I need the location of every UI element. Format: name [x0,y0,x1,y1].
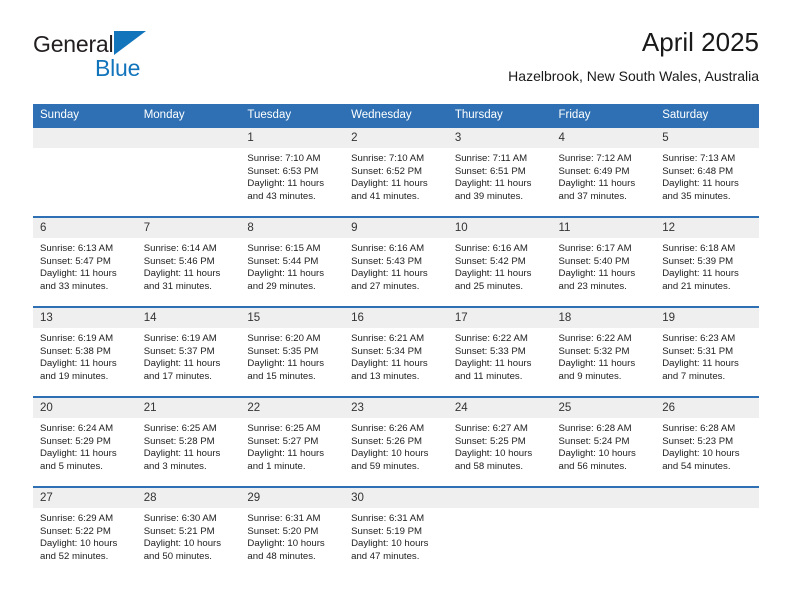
sunrise-text: Sunrise: 6:28 AM [662,423,754,436]
logo-top-row: General [33,30,233,58]
sunrise-text: Sunrise: 7:11 AM [455,153,547,166]
daylight-text: Daylight: 11 hours and 31 minutes. [144,268,236,293]
calendar-day-cell[interactable]: 25Sunrise: 6:28 AMSunset: 5:24 PMDayligh… [552,397,656,487]
calendar-day-cell[interactable]: 24Sunrise: 6:27 AMSunset: 5:25 PMDayligh… [448,397,552,487]
weekday-header-monday: Monday [137,104,241,127]
sunrise-text: Sunrise: 6:22 AM [455,333,547,346]
day-number: 9 [344,218,448,238]
sunset-text: Sunset: 5:35 PM [247,346,339,359]
daylight-text: Daylight: 10 hours and 56 minutes. [559,448,651,473]
calendar-day-cell[interactable]: 30Sunrise: 6:31 AMSunset: 5:19 PMDayligh… [344,487,448,576]
day-cell-inner: 3Sunrise: 7:11 AMSunset: 6:51 PMDaylight… [448,128,552,216]
day-cell-inner: 30Sunrise: 6:31 AMSunset: 5:19 PMDayligh… [344,488,448,576]
day-cell-details: Sunrise: 6:24 AMSunset: 5:29 PMDaylight:… [33,418,137,473]
day-cell-details: Sunrise: 6:22 AMSunset: 5:32 PMDaylight:… [552,328,656,383]
daylight-text: Daylight: 11 hours and 9 minutes. [559,358,651,383]
day-cell-inner: 26Sunrise: 6:28 AMSunset: 5:23 PMDayligh… [655,398,759,486]
day-cell-inner: 16Sunrise: 6:21 AMSunset: 5:34 PMDayligh… [344,308,448,396]
calendar-day-cell-empty [33,127,137,217]
day-cell-details: Sunrise: 6:15 AMSunset: 5:44 PMDaylight:… [240,238,344,293]
sunrise-text: Sunrise: 7:10 AM [351,153,443,166]
calendar-day-cell[interactable]: 13Sunrise: 6:19 AMSunset: 5:38 PMDayligh… [33,307,137,397]
day-cell-inner [137,128,241,216]
day-cell-inner: 24Sunrise: 6:27 AMSunset: 5:25 PMDayligh… [448,398,552,486]
day-cell-details: Sunrise: 6:22 AMSunset: 5:33 PMDaylight:… [448,328,552,383]
sunrise-text: Sunrise: 6:31 AM [351,513,443,526]
sunset-text: Sunset: 5:40 PM [559,256,651,269]
sunset-text: Sunset: 6:53 PM [247,166,339,179]
day-cell-inner: 5Sunrise: 7:13 AMSunset: 6:48 PMDaylight… [655,128,759,216]
day-cell-details: Sunrise: 7:12 AMSunset: 6:49 PMDaylight:… [552,148,656,203]
sunset-text: Sunset: 5:28 PM [144,436,236,449]
sunset-text: Sunset: 5:46 PM [144,256,236,269]
day-cell-inner [552,488,656,576]
sunset-text: Sunset: 5:47 PM [40,256,132,269]
calendar-day-cell[interactable]: 17Sunrise: 6:22 AMSunset: 5:33 PMDayligh… [448,307,552,397]
calendar-day-cell-empty [137,127,241,217]
day-number: 22 [240,398,344,418]
daylight-text: Daylight: 11 hours and 21 minutes. [662,268,754,293]
day-number: 30 [344,488,448,508]
day-cell-details: Sunrise: 6:30 AMSunset: 5:21 PMDaylight:… [137,508,241,563]
day-cell-details: Sunrise: 7:11 AMSunset: 6:51 PMDaylight:… [448,148,552,203]
day-number [552,488,656,508]
day-cell-inner: 9Sunrise: 6:16 AMSunset: 5:43 PMDaylight… [344,218,448,306]
sunrise-text: Sunrise: 6:19 AM [40,333,132,346]
day-number: 23 [344,398,448,418]
day-cell-inner: 29Sunrise: 6:31 AMSunset: 5:20 PMDayligh… [240,488,344,576]
day-cell-details: Sunrise: 6:31 AMSunset: 5:19 PMDaylight:… [344,508,448,563]
day-cell-details: Sunrise: 7:13 AMSunset: 6:48 PMDaylight:… [655,148,759,203]
daylight-text: Daylight: 10 hours and 50 minutes. [144,538,236,563]
daylight-text: Daylight: 11 hours and 41 minutes. [351,178,443,203]
day-number [448,488,552,508]
calendar-week-row: 20Sunrise: 6:24 AMSunset: 5:29 PMDayligh… [33,397,759,487]
daylight-text: Daylight: 10 hours and 59 minutes. [351,448,443,473]
day-cell-inner: 25Sunrise: 6:28 AMSunset: 5:24 PMDayligh… [552,398,656,486]
daylight-text: Daylight: 11 hours and 27 minutes. [351,268,443,293]
day-number: 20 [33,398,137,418]
day-cell-inner: 15Sunrise: 6:20 AMSunset: 5:35 PMDayligh… [240,308,344,396]
sunrise-text: Sunrise: 6:22 AM [559,333,651,346]
sunset-text: Sunset: 5:33 PM [455,346,547,359]
day-cell-details: Sunrise: 6:26 AMSunset: 5:26 PMDaylight:… [344,418,448,473]
sunset-text: Sunset: 6:48 PM [662,166,754,179]
page-header: General Blue April 2025 Hazelbrook, New … [33,26,759,96]
logo-text-blue: Blue [95,55,140,82]
sunset-text: Sunset: 6:51 PM [455,166,547,179]
day-number: 17 [448,308,552,328]
day-cell-inner: 23Sunrise: 6:26 AMSunset: 5:26 PMDayligh… [344,398,448,486]
sunrise-text: Sunrise: 6:17 AM [559,243,651,256]
calendar-day-cell[interactable]: 7Sunrise: 6:14 AMSunset: 5:46 PMDaylight… [137,217,241,307]
calendar-day-cell[interactable]: 29Sunrise: 6:31 AMSunset: 5:20 PMDayligh… [240,487,344,576]
sunrise-text: Sunrise: 6:13 AM [40,243,132,256]
day-number: 29 [240,488,344,508]
sunset-text: Sunset: 5:38 PM [40,346,132,359]
daylight-text: Daylight: 10 hours and 52 minutes. [40,538,132,563]
day-cell-inner: 7Sunrise: 6:14 AMSunset: 5:46 PMDaylight… [137,218,241,306]
day-cell-details: Sunrise: 7:10 AMSunset: 6:53 PMDaylight:… [240,148,344,203]
logo-text-general: General [33,31,113,57]
sunrise-text: Sunrise: 7:12 AM [559,153,651,166]
sunrise-text: Sunrise: 6:14 AM [144,243,236,256]
day-number: 4 [552,128,656,148]
calendar-day-cell-empty [552,487,656,576]
sunrise-text: Sunrise: 6:15 AM [247,243,339,256]
calendar-header-row: Sunday Monday Tuesday Wednesday Thursday… [33,104,759,127]
calendar-day-cell[interactable]: 23Sunrise: 6:26 AMSunset: 5:26 PMDayligh… [344,397,448,487]
daylight-text: Daylight: 11 hours and 43 minutes. [247,178,339,203]
daylight-text: Daylight: 11 hours and 33 minutes. [40,268,132,293]
sunrise-text: Sunrise: 6:28 AM [559,423,651,436]
calendar-day-cell[interactable]: 9Sunrise: 6:16 AMSunset: 5:43 PMDaylight… [344,217,448,307]
day-cell-inner: 17Sunrise: 6:22 AMSunset: 5:33 PMDayligh… [448,308,552,396]
sunrise-text: Sunrise: 6:24 AM [40,423,132,436]
logo-triangle-icon [114,31,146,55]
calendar-day-cell[interactable]: 19Sunrise: 6:23 AMSunset: 5:31 PMDayligh… [655,307,759,397]
day-cell-details: Sunrise: 6:20 AMSunset: 5:35 PMDaylight:… [240,328,344,383]
daylight-text: Daylight: 10 hours and 54 minutes. [662,448,754,473]
calendar-day-cell[interactable]: 1Sunrise: 7:10 AMSunset: 6:53 PMDaylight… [240,127,344,217]
day-number: 2 [344,128,448,148]
day-cell-inner: 18Sunrise: 6:22 AMSunset: 5:32 PMDayligh… [552,308,656,396]
calendar-day-cell[interactable]: 3Sunrise: 7:11 AMSunset: 6:51 PMDaylight… [448,127,552,217]
calendar-day-cell[interactable]: 26Sunrise: 6:28 AMSunset: 5:23 PMDayligh… [655,397,759,487]
day-number: 28 [137,488,241,508]
weekday-header-tuesday: Tuesday [240,104,344,127]
calendar-day-cell[interactable]: 21Sunrise: 6:25 AMSunset: 5:28 PMDayligh… [137,397,241,487]
calendar-day-cell[interactable]: 18Sunrise: 6:22 AMSunset: 5:32 PMDayligh… [552,307,656,397]
day-number: 16 [344,308,448,328]
day-number: 26 [655,398,759,418]
calendar-day-cell[interactable]: 22Sunrise: 6:25 AMSunset: 5:27 PMDayligh… [240,397,344,487]
calendar-day-cell[interactable]: 4Sunrise: 7:12 AMSunset: 6:49 PMDaylight… [552,127,656,217]
day-cell-inner: 6Sunrise: 6:13 AMSunset: 5:47 PMDaylight… [33,218,137,306]
sunrise-text: Sunrise: 6:18 AM [662,243,754,256]
day-cell-details: Sunrise: 6:28 AMSunset: 5:23 PMDaylight:… [655,418,759,473]
day-number: 7 [137,218,241,238]
sunrise-text: Sunrise: 7:10 AM [247,153,339,166]
day-cell-details: Sunrise: 7:10 AMSunset: 6:52 PMDaylight:… [344,148,448,203]
calendar-day-cell-empty [448,487,552,576]
calendar-week-row: 13Sunrise: 6:19 AMSunset: 5:38 PMDayligh… [33,307,759,397]
page-title: April 2025 [508,26,759,58]
daylight-text: Daylight: 11 hours and 15 minutes. [247,358,339,383]
calendar-day-cell[interactable]: 2Sunrise: 7:10 AMSunset: 6:52 PMDaylight… [344,127,448,217]
calendar-day-cell[interactable]: 20Sunrise: 6:24 AMSunset: 5:29 PMDayligh… [33,397,137,487]
day-cell-inner: 11Sunrise: 6:17 AMSunset: 5:40 PMDayligh… [552,218,656,306]
daylight-text: Daylight: 10 hours and 48 minutes. [247,538,339,563]
sunset-text: Sunset: 5:43 PM [351,256,443,269]
sunset-text: Sunset: 5:31 PM [662,346,754,359]
calendar-week-row: 6Sunrise: 6:13 AMSunset: 5:47 PMDaylight… [33,217,759,307]
day-cell-details: Sunrise: 6:28 AMSunset: 5:24 PMDaylight:… [552,418,656,473]
day-cell-inner: 22Sunrise: 6:25 AMSunset: 5:27 PMDayligh… [240,398,344,486]
sunrise-text: Sunrise: 6:25 AM [247,423,339,436]
day-cell-inner [655,488,759,576]
sunset-text: Sunset: 5:32 PM [559,346,651,359]
day-number: 15 [240,308,344,328]
sunset-text: Sunset: 5:42 PM [455,256,547,269]
calendar-day-cell[interactable]: 16Sunrise: 6:21 AMSunset: 5:34 PMDayligh… [344,307,448,397]
day-number [33,128,137,148]
day-cell-inner: 20Sunrise: 6:24 AMSunset: 5:29 PMDayligh… [33,398,137,486]
sunset-text: Sunset: 5:27 PM [247,436,339,449]
day-number: 19 [655,308,759,328]
sunrise-text: Sunrise: 6:26 AM [351,423,443,436]
day-number: 24 [448,398,552,418]
sunset-text: Sunset: 5:26 PM [351,436,443,449]
sunset-text: Sunset: 5:34 PM [351,346,443,359]
day-number: 3 [448,128,552,148]
day-cell-details: Sunrise: 6:23 AMSunset: 5:31 PMDaylight:… [655,328,759,383]
daylight-text: Daylight: 10 hours and 47 minutes. [351,538,443,563]
sunrise-text: Sunrise: 6:29 AM [40,513,132,526]
day-cell-inner: 21Sunrise: 6:25 AMSunset: 5:28 PMDayligh… [137,398,241,486]
weekday-header-wednesday: Wednesday [344,104,448,127]
calendar-body: 1Sunrise: 7:10 AMSunset: 6:53 PMDaylight… [33,127,759,576]
calendar-week-row: 1Sunrise: 7:10 AMSunset: 6:53 PMDaylight… [33,127,759,217]
calendar-day-cell-empty [655,487,759,576]
day-cell-inner [448,488,552,576]
weekday-header-sunday: Sunday [33,104,137,127]
daylight-text: Daylight: 11 hours and 11 minutes. [455,358,547,383]
day-number: 6 [33,218,137,238]
sunrise-text: Sunrise: 6:19 AM [144,333,236,346]
sunrise-text: Sunrise: 6:27 AM [455,423,547,436]
day-number: 11 [552,218,656,238]
day-number: 8 [240,218,344,238]
daylight-text: Daylight: 11 hours and 37 minutes. [559,178,651,203]
day-number: 25 [552,398,656,418]
daylight-text: Daylight: 11 hours and 25 minutes. [455,268,547,293]
day-cell-details: Sunrise: 6:14 AMSunset: 5:46 PMDaylight:… [137,238,241,293]
day-cell-details: Sunrise: 6:19 AMSunset: 5:38 PMDaylight:… [33,328,137,383]
day-number: 12 [655,218,759,238]
title-block: April 2025 Hazelbrook, New South Wales, … [508,26,759,85]
day-cell-details: Sunrise: 6:25 AMSunset: 5:27 PMDaylight:… [240,418,344,473]
sunrise-text: Sunrise: 6:31 AM [247,513,339,526]
day-cell-details: Sunrise: 6:13 AMSunset: 5:47 PMDaylight:… [33,238,137,293]
sunrise-text: Sunrise: 6:16 AM [455,243,547,256]
daylight-text: Daylight: 11 hours and 1 minute. [247,448,339,473]
calendar-day-cell[interactable]: 15Sunrise: 6:20 AMSunset: 5:35 PMDayligh… [240,307,344,397]
page-subtitle: Hazelbrook, New South Wales, Australia [508,68,759,85]
weekday-header-saturday: Saturday [655,104,759,127]
day-cell-details: Sunrise: 6:25 AMSunset: 5:28 PMDaylight:… [137,418,241,473]
day-cell-inner: 10Sunrise: 6:16 AMSunset: 5:42 PMDayligh… [448,218,552,306]
sunrise-text: Sunrise: 7:13 AM [662,153,754,166]
daylight-text: Daylight: 11 hours and 23 minutes. [559,268,651,293]
daylight-text: Daylight: 11 hours and 19 minutes. [40,358,132,383]
day-cell-details: Sunrise: 6:19 AMSunset: 5:37 PMDaylight:… [137,328,241,383]
calendar-day-cell[interactable]: 14Sunrise: 6:19 AMSunset: 5:37 PMDayligh… [137,307,241,397]
day-cell-inner: 8Sunrise: 6:15 AMSunset: 5:44 PMDaylight… [240,218,344,306]
sunrise-text: Sunrise: 6:16 AM [351,243,443,256]
daylight-text: Daylight: 11 hours and 29 minutes. [247,268,339,293]
day-number [137,128,241,148]
calendar-day-cell[interactable]: 27Sunrise: 6:29 AMSunset: 5:22 PMDayligh… [33,487,137,576]
sunset-text: Sunset: 5:29 PM [40,436,132,449]
sunset-text: Sunset: 5:37 PM [144,346,236,359]
calendar-day-cell[interactable]: 8Sunrise: 6:15 AMSunset: 5:44 PMDaylight… [240,217,344,307]
day-number: 10 [448,218,552,238]
day-cell-details: Sunrise: 6:17 AMSunset: 5:40 PMDaylight:… [552,238,656,293]
day-cell-details: Sunrise: 6:31 AMSunset: 5:20 PMDaylight:… [240,508,344,563]
calendar-day-cell[interactable]: 5Sunrise: 7:13 AMSunset: 6:48 PMDaylight… [655,127,759,217]
day-cell-details: Sunrise: 6:18 AMSunset: 5:39 PMDaylight:… [655,238,759,293]
daylight-text: Daylight: 11 hours and 3 minutes. [144,448,236,473]
sunrise-text: Sunrise: 6:23 AM [662,333,754,346]
daylight-text: Daylight: 11 hours and 39 minutes. [455,178,547,203]
day-number: 27 [33,488,137,508]
day-cell-inner: 13Sunrise: 6:19 AMSunset: 5:38 PMDayligh… [33,308,137,396]
daylight-text: Daylight: 11 hours and 5 minutes. [40,448,132,473]
sunset-text: Sunset: 5:39 PM [662,256,754,269]
calendar-day-cell[interactable]: 28Sunrise: 6:30 AMSunset: 5:21 PMDayligh… [137,487,241,576]
calendar-day-cell[interactable]: 12Sunrise: 6:18 AMSunset: 5:39 PMDayligh… [655,217,759,307]
daylight-text: Daylight: 10 hours and 58 minutes. [455,448,547,473]
calendar-day-cell[interactable]: 11Sunrise: 6:17 AMSunset: 5:40 PMDayligh… [552,217,656,307]
day-number [655,488,759,508]
calendar-day-cell[interactable]: 10Sunrise: 6:16 AMSunset: 5:42 PMDayligh… [448,217,552,307]
day-cell-details: Sunrise: 6:16 AMSunset: 5:43 PMDaylight:… [344,238,448,293]
day-cell-inner: 2Sunrise: 7:10 AMSunset: 6:52 PMDaylight… [344,128,448,216]
weekday-header-thursday: Thursday [448,104,552,127]
daylight-text: Daylight: 11 hours and 13 minutes. [351,358,443,383]
day-cell-details: Sunrise: 6:16 AMSunset: 5:42 PMDaylight:… [448,238,552,293]
weekday-header-friday: Friday [552,104,656,127]
day-cell-inner [33,128,137,216]
calendar-table: Sunday Monday Tuesday Wednesday Thursday… [33,104,759,576]
day-number: 18 [552,308,656,328]
day-cell-inner: 4Sunrise: 7:12 AMSunset: 6:49 PMDaylight… [552,128,656,216]
day-cell-details: Sunrise: 6:29 AMSunset: 5:22 PMDaylight:… [33,508,137,563]
day-number: 5 [655,128,759,148]
daylight-text: Daylight: 11 hours and 35 minutes. [662,178,754,203]
sunset-text: Sunset: 6:49 PM [559,166,651,179]
sunrise-text: Sunrise: 6:20 AM [247,333,339,346]
sunset-text: Sunset: 5:20 PM [247,526,339,539]
day-cell-inner: 12Sunrise: 6:18 AMSunset: 5:39 PMDayligh… [655,218,759,306]
daylight-text: Daylight: 11 hours and 7 minutes. [662,358,754,383]
sunset-text: Sunset: 6:52 PM [351,166,443,179]
sunset-text: Sunset: 5:23 PM [662,436,754,449]
day-number: 13 [33,308,137,328]
general-blue-logo[interactable]: General Blue [33,30,233,86]
day-number: 1 [240,128,344,148]
calendar-day-cell[interactable]: 6Sunrise: 6:13 AMSunset: 5:47 PMDaylight… [33,217,137,307]
sunrise-text: Sunrise: 6:30 AM [144,513,236,526]
calendar-week-row: 27Sunrise: 6:29 AMSunset: 5:22 PMDayligh… [33,487,759,576]
day-number: 21 [137,398,241,418]
day-cell-inner: 27Sunrise: 6:29 AMSunset: 5:22 PMDayligh… [33,488,137,576]
sunset-text: Sunset: 5:21 PM [144,526,236,539]
day-cell-inner: 14Sunrise: 6:19 AMSunset: 5:37 PMDayligh… [137,308,241,396]
day-cell-inner: 19Sunrise: 6:23 AMSunset: 5:31 PMDayligh… [655,308,759,396]
sunset-text: Sunset: 5:25 PM [455,436,547,449]
sunset-text: Sunset: 5:22 PM [40,526,132,539]
day-cell-details: Sunrise: 6:27 AMSunset: 5:25 PMDaylight:… [448,418,552,473]
daylight-text: Daylight: 11 hours and 17 minutes. [144,358,236,383]
sunset-text: Sunset: 5:44 PM [247,256,339,269]
day-cell-inner: 1Sunrise: 7:10 AMSunset: 6:53 PMDaylight… [240,128,344,216]
calendar-page: General Blue April 2025 Hazelbrook, New … [0,0,792,612]
day-cell-inner: 28Sunrise: 6:30 AMSunset: 5:21 PMDayligh… [137,488,241,576]
sunrise-text: Sunrise: 6:21 AM [351,333,443,346]
sunrise-text: Sunrise: 6:25 AM [144,423,236,436]
sunset-text: Sunset: 5:24 PM [559,436,651,449]
day-number: 14 [137,308,241,328]
day-cell-details: Sunrise: 6:21 AMSunset: 5:34 PMDaylight:… [344,328,448,383]
sunset-text: Sunset: 5:19 PM [351,526,443,539]
